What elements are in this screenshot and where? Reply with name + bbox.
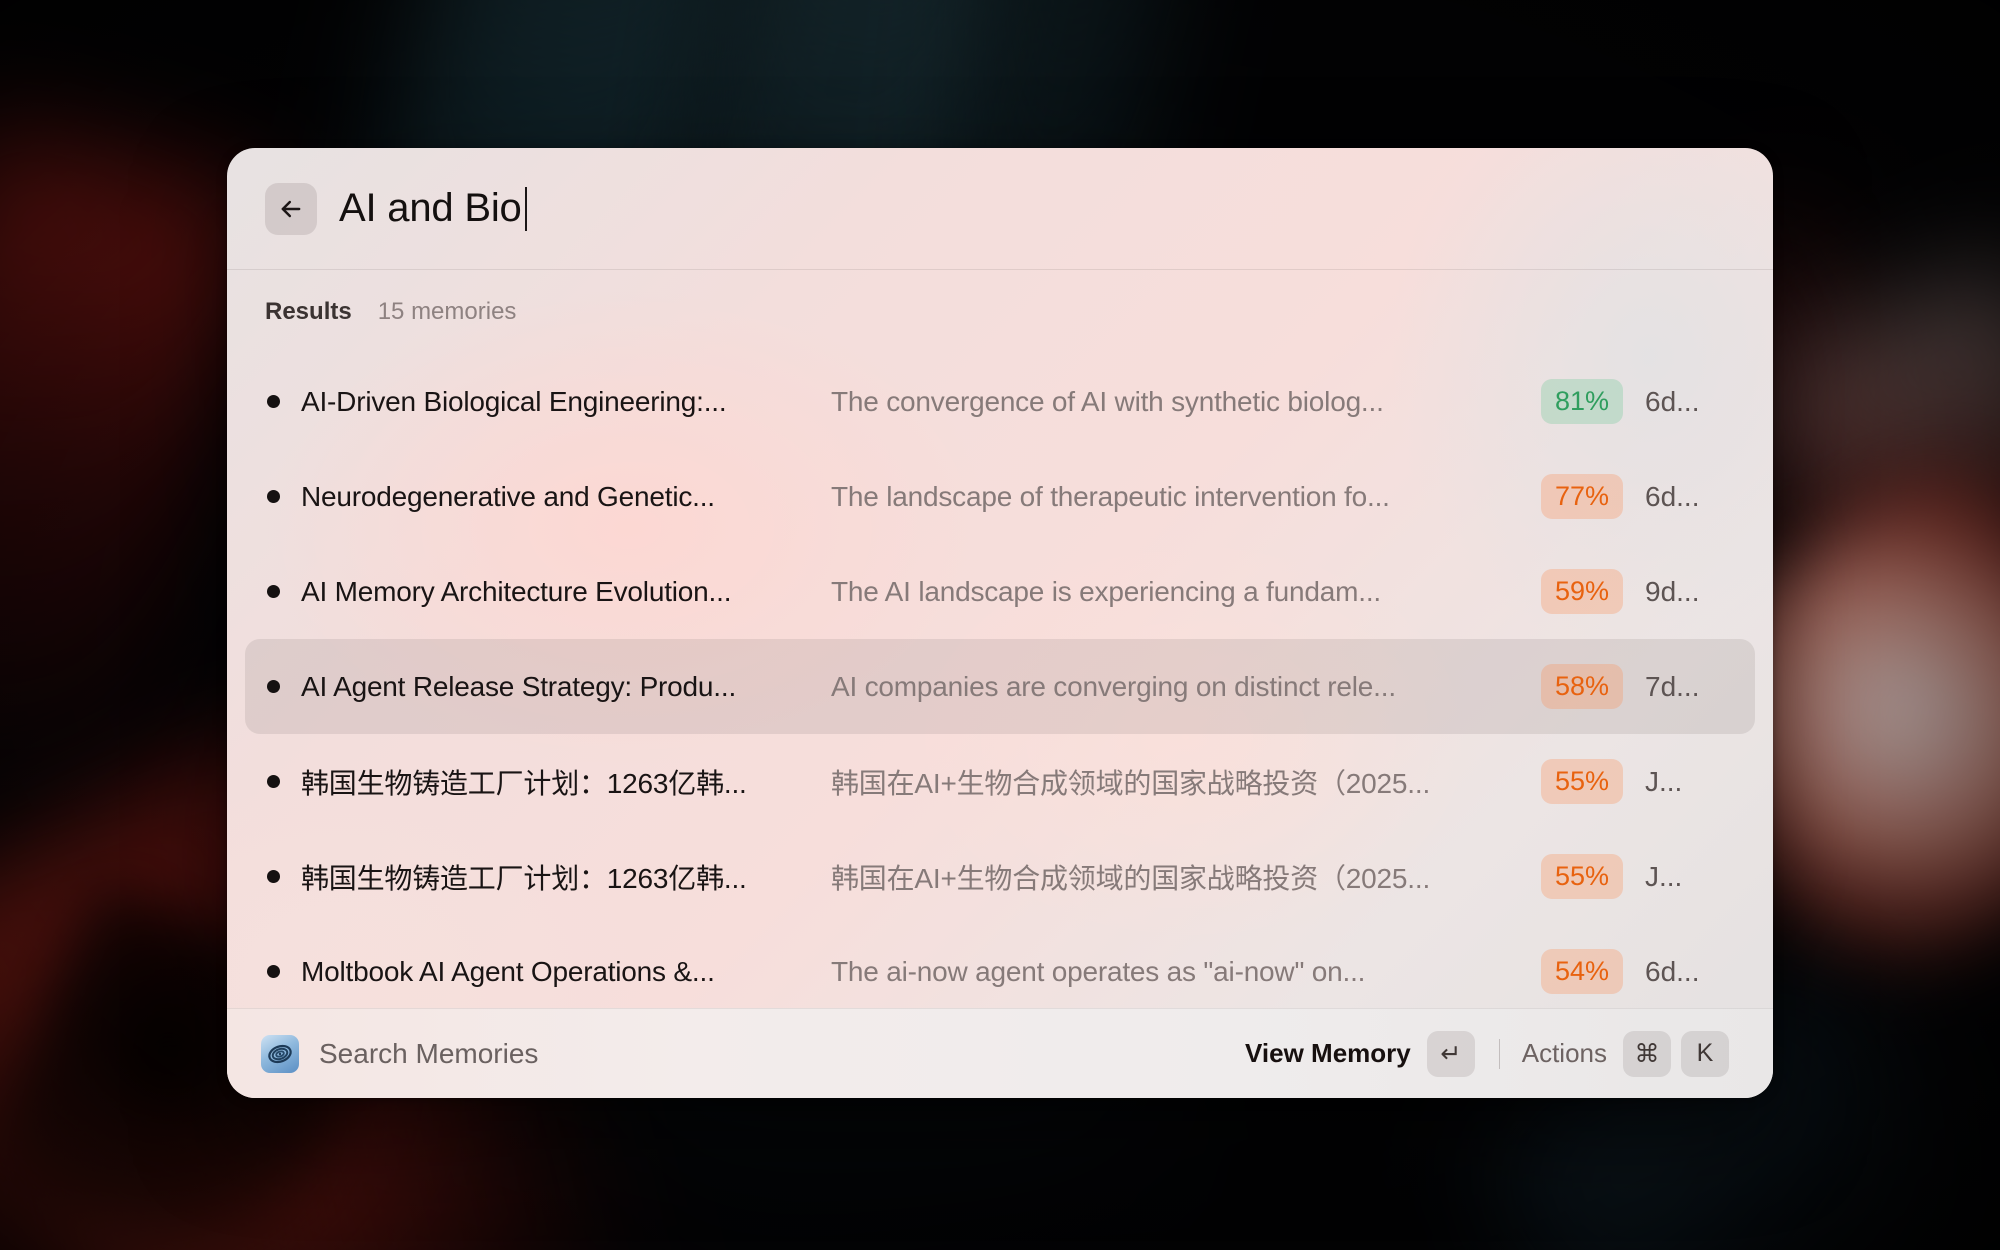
- result-title: 韩国生物铸造工厂计划：1263亿韩...: [301, 762, 831, 802]
- result-row[interactable]: AI-Driven Biological Engineering:...The …: [245, 354, 1755, 449]
- result-date: 7d...: [1645, 671, 1733, 703]
- actions-label[interactable]: Actions: [1522, 1038, 1607, 1069]
- footer-bar: Search Memories View Memory ↵ Actions ⌘ …: [227, 1008, 1773, 1098]
- search-query-text: AI and Bio: [339, 186, 522, 231]
- bullet-icon: [267, 585, 301, 598]
- result-snippet: 韩国在AI+生物合成领域的国家战略投资（2025...: [831, 857, 1541, 897]
- spotlight-launcher-panel: AI and Bio Results 15 memories AI-Driven…: [227, 148, 1773, 1098]
- search-bar: AI and Bio: [227, 148, 1773, 270]
- results-count: 15 memories: [378, 298, 517, 326]
- result-row[interactable]: 韩国生物铸造工厂计划：1263亿韩...韩国在AI+生物合成领域的国家战略投资（…: [245, 734, 1755, 829]
- results-header: Results 15 memories: [227, 270, 1773, 354]
- result-title: AI-Driven Biological Engineering:...: [301, 386, 831, 418]
- result-score-badge: 55%: [1541, 854, 1623, 899]
- result-score-badge: 58%: [1541, 664, 1623, 709]
- result-title: 韩国生物铸造工厂计划：1263亿韩...: [301, 857, 831, 897]
- desktop-wallpaper: AI and Bio Results 15 memories AI-Driven…: [0, 0, 2000, 1250]
- bullet-icon: [267, 680, 301, 693]
- results-list[interactable]: AI-Driven Biological Engineering:...The …: [227, 354, 1773, 1008]
- result-date: J...: [1645, 861, 1733, 893]
- result-row[interactable]: 韩国生物铸造工厂计划：1263亿韩...韩国在AI+生物合成领域的国家战略投资（…: [245, 829, 1755, 924]
- view-memory-label[interactable]: View Memory: [1245, 1038, 1411, 1069]
- text-caret: [525, 187, 527, 231]
- result-score-badge: 55%: [1541, 759, 1623, 804]
- result-title: AI Memory Architecture Evolution...: [301, 576, 831, 608]
- k-key[interactable]: K: [1681, 1031, 1729, 1077]
- result-snippet: The landscape of therapeutic interventio…: [831, 481, 1541, 513]
- back-button[interactable]: [265, 183, 317, 235]
- footer-actions: View Memory ↵ Actions ⌘ K: [1245, 1031, 1739, 1077]
- result-snippet: AI companies are converging on distinct …: [831, 671, 1541, 703]
- results-label: Results: [265, 298, 352, 326]
- back-arrow-icon: [277, 195, 305, 223]
- result-date: J...: [1645, 766, 1733, 798]
- result-date: 9d...: [1645, 576, 1733, 608]
- bullet-icon: [267, 395, 301, 408]
- command-key[interactable]: ⌘: [1623, 1031, 1671, 1077]
- result-score-badge: 59%: [1541, 569, 1623, 614]
- enter-key[interactable]: ↵: [1427, 1031, 1475, 1077]
- result-snippet: The convergence of AI with synthetic bio…: [831, 386, 1541, 418]
- result-snippet: 韩国在AI+生物合成领域的国家战略投资（2025...: [831, 762, 1541, 802]
- bullet-icon: [267, 775, 301, 788]
- result-snippet: The ai-now agent operates as "ai-now" on…: [831, 956, 1541, 988]
- result-date: 6d...: [1645, 481, 1733, 513]
- result-snippet: The AI landscape is experiencing a funda…: [831, 576, 1541, 608]
- result-score-badge: 77%: [1541, 474, 1623, 519]
- result-date: 6d...: [1645, 386, 1733, 418]
- result-title: Moltbook AI Agent Operations &...: [301, 956, 831, 988]
- result-row[interactable]: Neurodegenerative and Genetic...The land…: [245, 449, 1755, 544]
- result-row[interactable]: Moltbook AI Agent Operations &...The ai-…: [245, 924, 1755, 1008]
- bullet-icon: [267, 965, 301, 978]
- bullet-icon: [267, 490, 301, 503]
- spiral-app-icon: [261, 1035, 299, 1073]
- result-score-badge: 54%: [1541, 949, 1623, 994]
- result-score-badge: 81%: [1541, 379, 1623, 424]
- result-row[interactable]: AI Memory Architecture Evolution...The A…: [245, 544, 1755, 639]
- search-input[interactable]: AI and Bio: [339, 186, 527, 231]
- search-memories-placeholder[interactable]: Search Memories: [319, 1038, 538, 1070]
- result-title: AI Agent Release Strategy: Produ...: [301, 671, 831, 703]
- result-title: Neurodegenerative and Genetic...: [301, 481, 831, 513]
- result-row[interactable]: AI Agent Release Strategy: Produ...AI co…: [245, 639, 1755, 734]
- result-date: 6d...: [1645, 956, 1733, 988]
- wallpaper-glow-pink-2: [1743, 255, 2000, 764]
- bullet-icon: [267, 870, 301, 883]
- footer-divider: [1499, 1039, 1500, 1069]
